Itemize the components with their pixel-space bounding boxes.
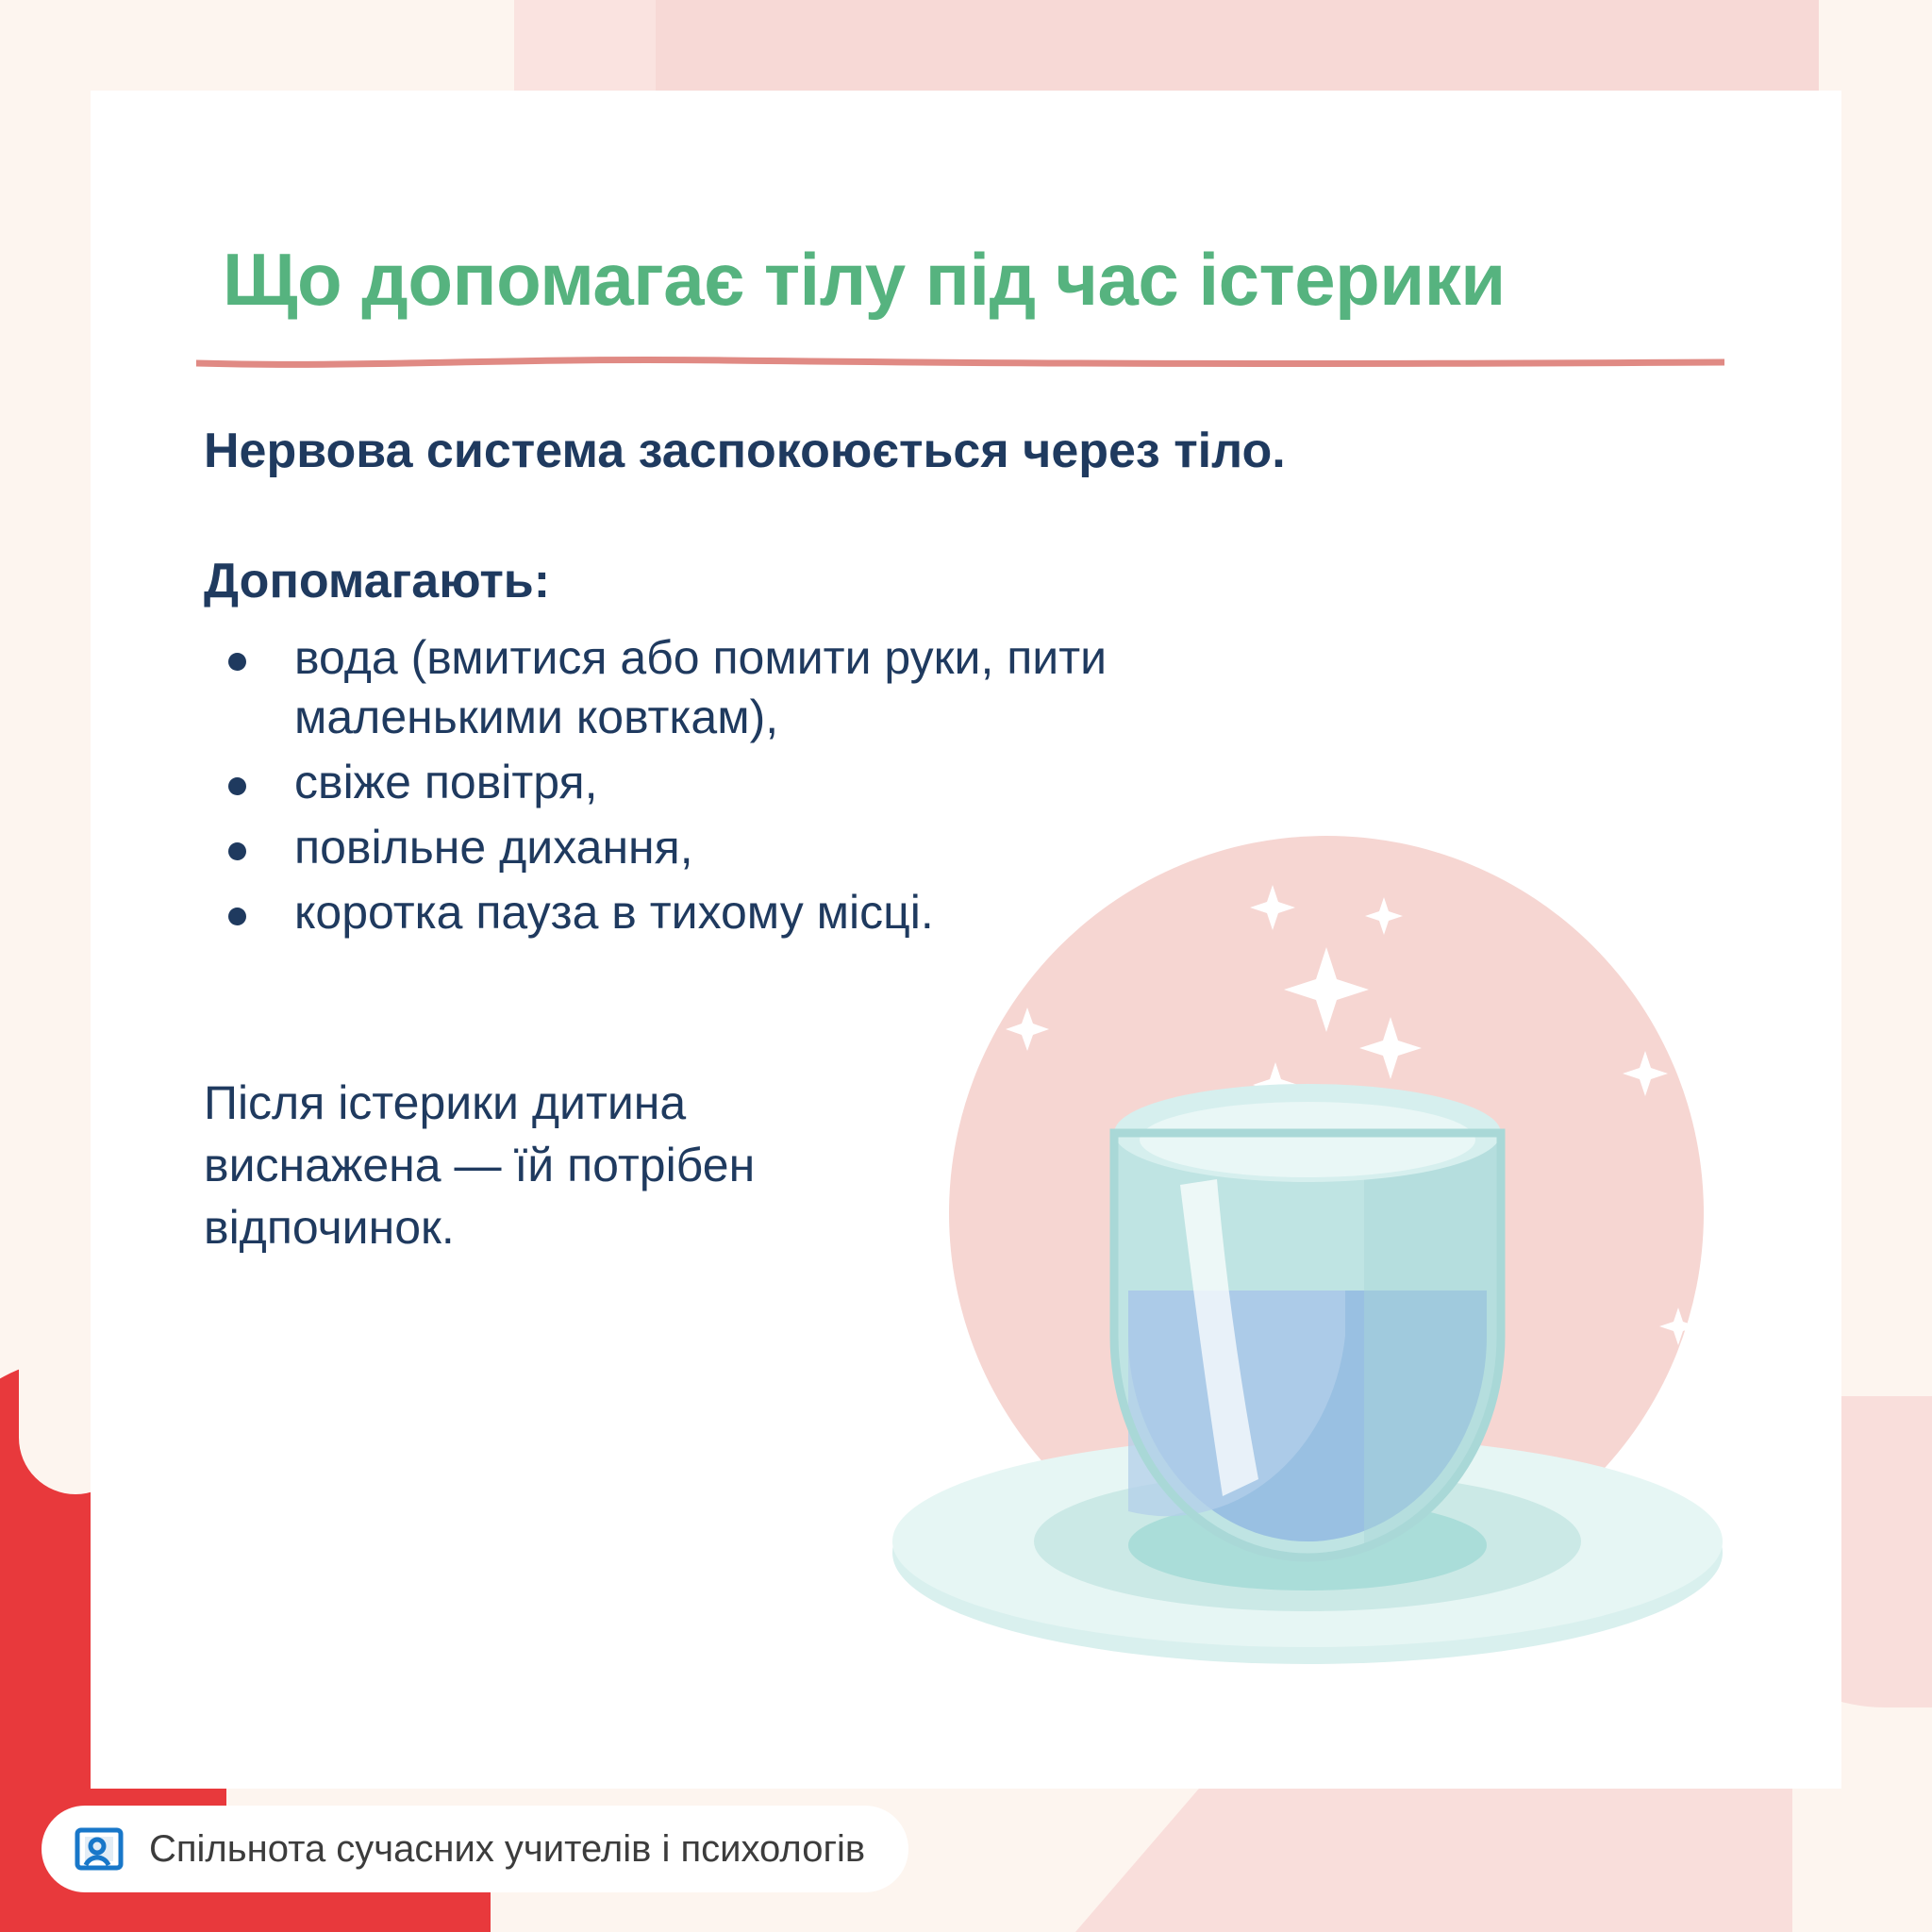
footer-label: Спільнота сучасних учителів і психологів	[149, 1828, 865, 1871]
bullet-dot-icon	[228, 842, 246, 860]
card-content: Що допомагає тілу під час істерики Нерво…	[91, 91, 1841, 1789]
list-item: вода (вмитися або помити руки, пити мале…	[204, 628, 1279, 747]
closing-paragraph: Після істерики дитина виснажена — їй пот…	[204, 1072, 883, 1258]
list-item-label: вода (вмитися або помити руки, пити мале…	[294, 631, 1107, 743]
lead-statement: Нервова система заспокоюється через тіло…	[204, 423, 1713, 479]
content-card: Що допомагає тілу під час істерики Нерво…	[91, 91, 1841, 1789]
list-item-label: повільне дихання,	[294, 821, 693, 874]
list-item: свіже повітря,	[204, 753, 1279, 812]
bullet-dot-icon	[228, 777, 246, 795]
page-title: Що допомагає тілу під час істерики	[223, 237, 1732, 323]
list-item-label: свіже повітря,	[294, 756, 597, 808]
title-underline	[196, 355, 1724, 368]
glass-of-water-illustration	[836, 808, 1798, 1704]
bullet-dot-icon	[228, 653, 246, 671]
helps-heading: Допомагають:	[204, 553, 550, 609]
community-person-frame-icon	[74, 1824, 125, 1874]
footer-community-badge[interactable]: Спільнота сучасних учителів і психологів	[42, 1806, 908, 1892]
bullet-dot-icon	[228, 908, 246, 925]
